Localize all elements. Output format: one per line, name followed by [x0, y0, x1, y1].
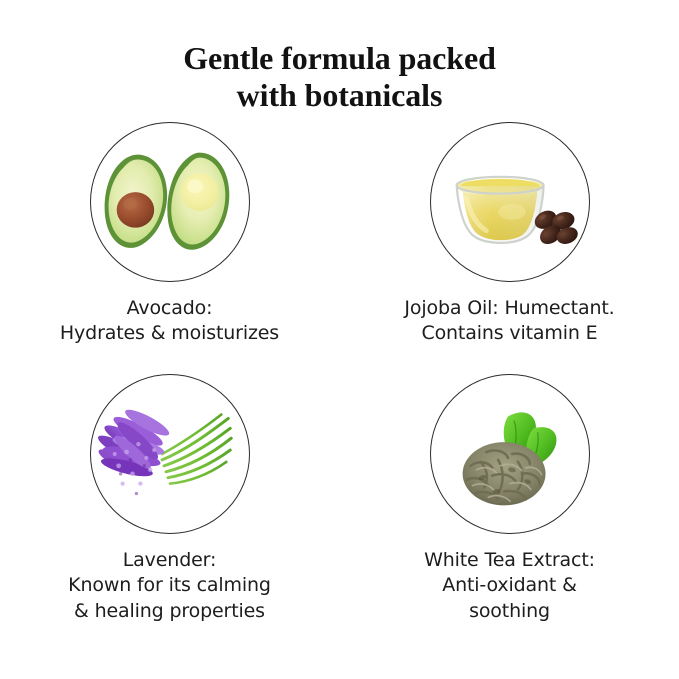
ingredient-card-lavender: Lavender: Known for its calming & healin… [0, 364, 339, 624]
ingredient-card-jojoba-oil: Jojoba Oil: Humectant. Contains vitamin … [340, 112, 679, 347]
white-tea-leaves-icon [431, 375, 589, 533]
ingredients-infographic: Gentle formula packed with botanicals [0, 0, 679, 679]
ingredient-circle-white-tea-extract [430, 374, 590, 534]
caption-line: Contains vitamin E [340, 321, 679, 346]
avocado-halves-icon [91, 123, 249, 281]
avocado-half-hollow [167, 153, 229, 250]
ingredient-card-avocado: Avocado: Hydrates & moisturizes [0, 112, 339, 347]
caption-line: Avocado: [0, 296, 339, 321]
ingredient-circle-avocado [90, 122, 250, 282]
lavender-bouquet-icon [91, 375, 249, 533]
ingredient-circle-jojoba-oil [430, 122, 590, 282]
ingredient-caption-white-tea-extract: White Tea Extract: Anti-oxidant & soothi… [340, 548, 679, 624]
caption-line: Jojoba Oil: Humectant. [340, 296, 679, 321]
ingredient-caption-avocado: Avocado: Hydrates & moisturizes [0, 296, 339, 347]
caption-line: Lavender: [0, 548, 339, 573]
page-title-line-2: with botanicals [0, 77, 679, 114]
caption-line: soothing [340, 599, 679, 624]
caption-line: Anti-oxidant & [340, 573, 679, 598]
page-title-line-1: Gentle formula packed [0, 40, 679, 77]
ingredient-caption-lavender: Lavender: Known for its calming & healin… [0, 548, 339, 624]
avocado-half-with-pit [104, 155, 166, 248]
ingredient-circle-lavender [90, 374, 250, 534]
jojoba-oil-bowl-icon [431, 123, 589, 281]
caption-line: Known for its calming [0, 573, 339, 598]
dried-tea-leaf-pile [462, 442, 545, 505]
page-title: Gentle formula packed with botanicals [0, 40, 679, 114]
caption-line: White Tea Extract: [340, 548, 679, 573]
caption-line: & healing properties [0, 599, 339, 624]
ingredient-caption-jojoba-oil: Jojoba Oil: Humectant. Contains vitamin … [340, 296, 679, 347]
ingredient-card-white-tea-extract: White Tea Extract: Anti-oxidant & soothi… [340, 364, 679, 624]
lavender-flower-spikes [91, 400, 172, 495]
ingredient-grid: Avocado: Hydrates & moisturizes [0, 112, 679, 672]
caption-line: Hydrates & moisturizes [0, 321, 339, 346]
glass-bowl-with-oil [456, 177, 543, 243]
lavender-stems [162, 415, 231, 484]
